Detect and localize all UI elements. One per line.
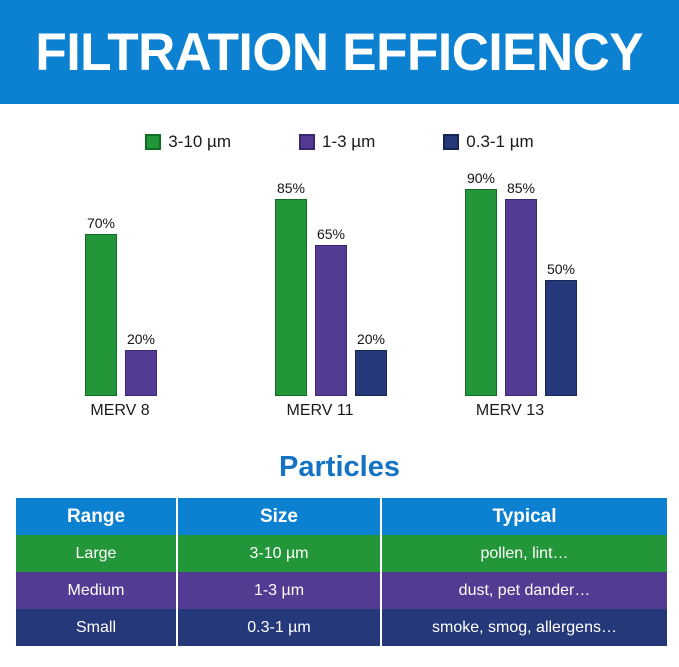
bar-merv8-3-10um[interactable]: 70% bbox=[85, 170, 117, 396]
bar-value-merv8-3-10um: 70% bbox=[87, 215, 115, 231]
legend-label-3-10um: 3-10 µm bbox=[168, 132, 231, 152]
bar-value-merv11-03-1um: 20% bbox=[357, 331, 385, 347]
cell-size-medium: 1-3 µm bbox=[177, 572, 381, 609]
bar-rect-merv11-03-1um bbox=[355, 350, 387, 396]
bar-rect-merv13-3-10um bbox=[465, 189, 497, 396]
table-row[interactable]: Small 0.3-1 µm smoke, smog, allergens… bbox=[16, 609, 667, 646]
bar-value-merv8-1-3um: 20% bbox=[127, 331, 155, 347]
table-header-row: Range Size Typical bbox=[16, 498, 667, 535]
bar-group-merv-13: 90% 85% 50% bbox=[465, 170, 577, 396]
bar-rect-merv8-1-3um bbox=[125, 350, 157, 396]
cell-size-large: 3-10 µm bbox=[177, 535, 381, 572]
cell-range-large: Large bbox=[16, 535, 177, 572]
bar-value-merv13-1-3um: 85% bbox=[507, 180, 535, 196]
table-row[interactable]: Medium 1-3 µm dust, pet dander… bbox=[16, 572, 667, 609]
chart-category-labels: MERV 8 MERV 11 MERV 13 bbox=[0, 402, 679, 428]
legend-item-03-1um[interactable]: 0.3-1 µm bbox=[443, 132, 533, 152]
category-label-merv-13: MERV 13 bbox=[455, 402, 565, 420]
bar-group-merv-8: 70% 20% bbox=[85, 170, 157, 396]
cell-typical-large: pollen, lint… bbox=[381, 535, 667, 572]
legend-swatch-navy bbox=[443, 134, 459, 150]
bar-rect-merv8-3-10um bbox=[85, 234, 117, 396]
category-label-merv-11: MERV 11 bbox=[265, 402, 375, 420]
bar-rect-merv13-1-3um bbox=[505, 199, 537, 396]
cell-typical-medium: dust, pet dander… bbox=[381, 572, 667, 609]
legend-item-1-3um[interactable]: 1-3 µm bbox=[299, 132, 375, 152]
particles-table: Range Size Typical Large 3-10 µm pollen,… bbox=[16, 498, 667, 646]
bar-rect-merv11-1-3um bbox=[315, 245, 347, 396]
chart-plot-area: 70% 20% 85% 65% 20% bbox=[0, 170, 679, 396]
cell-range-medium: Medium bbox=[16, 572, 177, 609]
particles-section-title: Particles bbox=[0, 452, 679, 484]
table-row[interactable]: Large 3-10 µm pollen, lint… bbox=[16, 535, 667, 572]
cell-range-small: Small bbox=[16, 609, 177, 646]
bar-merv11-3-10um[interactable]: 85% bbox=[275, 170, 307, 396]
chart-legend: 3-10 µm 1-3 µm 0.3-1 µm bbox=[0, 128, 679, 156]
bar-merv13-03-1um[interactable]: 50% bbox=[545, 170, 577, 396]
header-banner: FILTRATION EFFICIENCY bbox=[0, 0, 679, 104]
bar-group-merv-11: 85% 65% 20% bbox=[275, 170, 387, 396]
bar-merv13-1-3um[interactable]: 85% bbox=[505, 170, 537, 396]
bar-value-merv13-3-10um: 90% bbox=[467, 170, 495, 186]
bar-rect-merv13-03-1um bbox=[545, 280, 577, 396]
legend-label-1-3um: 1-3 µm bbox=[322, 132, 375, 152]
column-header-typical: Typical bbox=[381, 498, 667, 535]
column-header-range: Range bbox=[16, 498, 177, 535]
bar-rect-merv11-3-10um bbox=[275, 199, 307, 396]
legend-label-03-1um: 0.3-1 µm bbox=[466, 132, 533, 152]
bar-merv13-3-10um[interactable]: 90% bbox=[465, 170, 497, 396]
legend-swatch-purple bbox=[299, 134, 315, 150]
filtration-efficiency-bar-chart: 70% 20% 85% 65% 20% bbox=[0, 170, 679, 436]
column-header-size: Size bbox=[177, 498, 381, 535]
bar-value-merv13-03-1um: 50% bbox=[547, 261, 575, 277]
legend-swatch-green bbox=[145, 134, 161, 150]
bar-merv11-03-1um[interactable]: 20% bbox=[355, 170, 387, 396]
cell-size-small: 0.3-1 µm bbox=[177, 609, 381, 646]
bar-merv8-1-3um[interactable]: 20% bbox=[125, 170, 157, 396]
legend-item-3-10um[interactable]: 3-10 µm bbox=[145, 132, 231, 152]
cell-typical-small: smoke, smog, allergens… bbox=[381, 609, 667, 646]
bar-merv11-1-3um[interactable]: 65% bbox=[315, 170, 347, 396]
bar-value-merv11-1-3um: 65% bbox=[317, 226, 345, 242]
bar-value-merv11-3-10um: 85% bbox=[277, 180, 305, 196]
page-title: FILTRATION EFFICIENCY bbox=[36, 26, 644, 79]
category-label-merv-8: MERV 8 bbox=[65, 402, 175, 420]
